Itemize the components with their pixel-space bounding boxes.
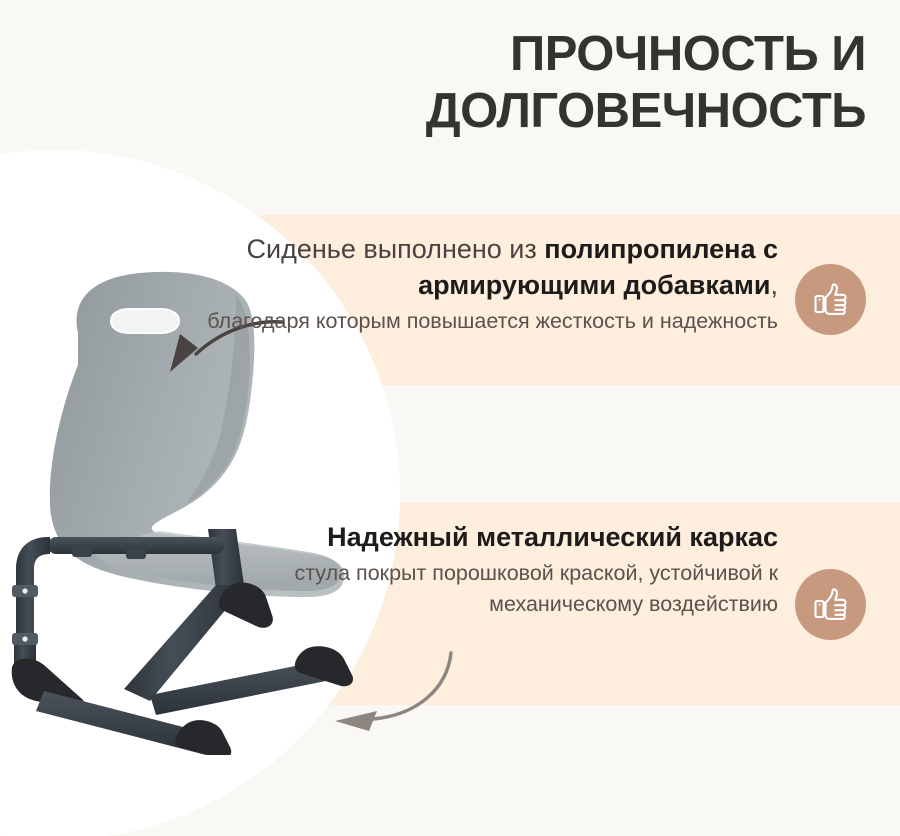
feature-1-tail: , — [770, 270, 778, 300]
feature-text-1: Сиденье выполнено из полипропилена с арм… — [138, 231, 778, 337]
arrow-to-frame-icon — [265, 645, 465, 735]
feature-1-headline: Сиденье выполнено из полипропилена с арм… — [138, 231, 778, 303]
feature-text-2: Надежный металлический каркас стула покр… — [258, 519, 778, 619]
feature-1-lead: Сиденье выполнено из — [247, 234, 545, 264]
page-title: ПРОЧНОСТЬ И ДОЛГОВЕЧНОСТЬ — [166, 26, 866, 140]
feature-2-body: стула покрыт порошковой краской, устойчи… — [258, 558, 778, 619]
feature-2-badge — [795, 569, 866, 640]
feature-2-strong: Надежный металлический каркас — [327, 522, 778, 552]
feature-1-body: благодаря которым повышается жесткость и… — [138, 306, 778, 337]
thumbs-up-icon — [811, 585, 851, 625]
infographic-root: ПРОЧНОСТЬ И ДОЛГОВЕЧНОСТЬ Сиденье выполн… — [0, 0, 900, 836]
feature-1-badge — [795, 264, 866, 335]
thumbs-up-icon — [811, 280, 851, 320]
feature-2-headline: Надежный металлический каркас — [258, 519, 778, 555]
